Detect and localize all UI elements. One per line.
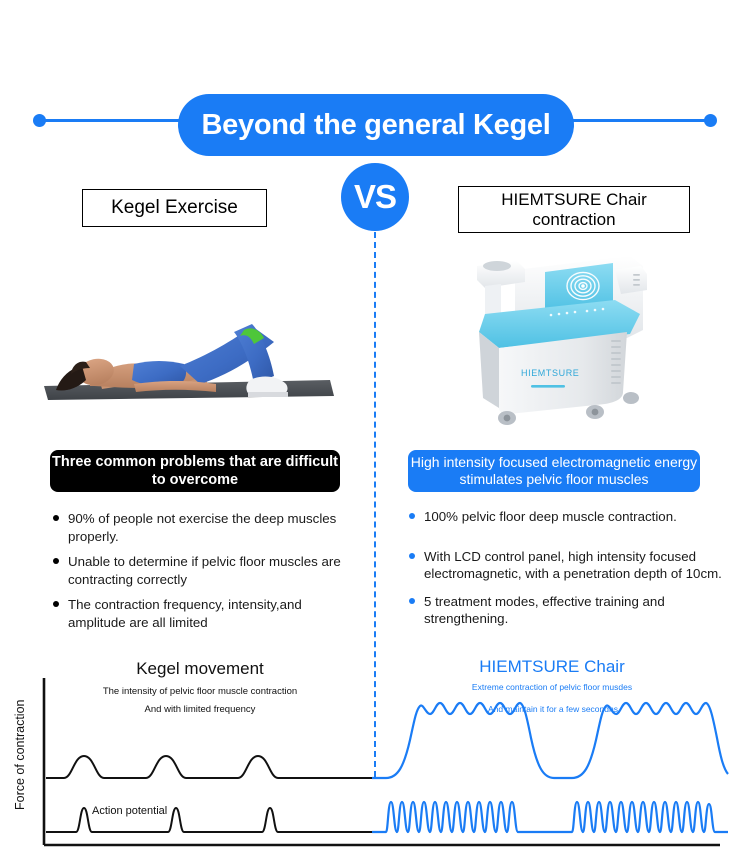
right-column-title: HIEMTSURE Chair contraction [459, 190, 689, 229]
comparison-chart: Force of contraction Kegel movement The … [0, 640, 750, 867]
vs-badge: VS [341, 163, 409, 231]
bullet-dot-icon [53, 558, 59, 564]
header-dot-right [704, 114, 717, 127]
list-item-text: With LCD control panel, high intensity f… [424, 549, 722, 582]
list-item-text: 90% of people not exercise the deep musc… [68, 511, 336, 544]
left-bullet-list: 90% of people not exercise the deep musc… [52, 510, 352, 639]
kegel-exercise-photo [38, 268, 338, 408]
list-item-text: 100% pelvic floor deep muscle contractio… [424, 509, 677, 524]
right-chart-title: HIEMTSURE Chair [479, 657, 625, 676]
bullet-dot-icon [409, 513, 415, 519]
right-chart-subtitle-1: Extreme contraction of pelvic floor musd… [472, 682, 632, 692]
header-pill: Beyond the general Kegel [178, 94, 574, 156]
header-dot-left [33, 114, 46, 127]
action-potential-label: Action potential [92, 805, 167, 817]
bullet-dot-icon [53, 601, 59, 607]
left-chart-subtitle-2: And with limited frequency [145, 704, 256, 715]
header-banner: Beyond the general Kegel [0, 40, 750, 120]
infographic-page: Beyond the general Kegel VS Kegel Exerci… [0, 0, 750, 867]
list-item-text: Unable to determine if pelvic floor musc… [68, 554, 341, 587]
left-banner: Three common problems that are difficult… [50, 450, 340, 492]
list-item-text: 5 treatment modes, effective training an… [424, 594, 665, 627]
list-item: Unable to determine if pelvic floor musc… [52, 553, 352, 588]
list-item: 100% pelvic floor deep muscle contractio… [408, 508, 738, 526]
header-rule-left [40, 119, 200, 122]
left-banner-text: Three common problems that are difficult… [50, 453, 340, 489]
page-title: Beyond the general Kegel [202, 109, 551, 142]
left-column-title-box: Kegel Exercise [82, 189, 267, 227]
vs-label: VS [354, 178, 396, 216]
list-item: With LCD control panel, high intensity f… [408, 548, 738, 583]
right-banner: High intensity focused electromagnetic e… [408, 450, 700, 492]
left-contraction-force-trace [46, 756, 372, 778]
left-chart-title: Kegel movement [136, 659, 264, 678]
right-action-potential-trace [372, 802, 728, 832]
right-bullet-list: 100% pelvic floor deep muscle contractio… [408, 508, 738, 638]
bullet-dot-icon [53, 515, 59, 521]
right-column-title-box: HIEMTSURE Chair contraction [458, 186, 690, 233]
hiemtsure-chair-photo: HIEMTSURE [455, 252, 670, 432]
svg-text:HIEMTSURE: HIEMTSURE [521, 368, 579, 378]
list-item-text: The contraction frequency, intensity,and… [68, 597, 302, 630]
left-chart-subtitle-1: The intensity of pelvic floor muscle con… [103, 686, 297, 697]
list-item: 90% of people not exercise the deep musc… [52, 510, 352, 545]
list-item: The contraction frequency, intensity,and… [52, 596, 352, 631]
list-item: 5 treatment modes, effective training an… [408, 593, 738, 628]
right-banner-text: High intensity focused electromagnetic e… [408, 454, 700, 489]
header-rule-right [550, 119, 710, 122]
chart-y-axis-label: Force of contraction [13, 699, 27, 810]
bullet-dot-icon [409, 598, 415, 604]
left-column-title: Kegel Exercise [111, 197, 238, 219]
bullet-dot-icon [409, 553, 415, 559]
right-contraction-force-trace [372, 703, 728, 778]
